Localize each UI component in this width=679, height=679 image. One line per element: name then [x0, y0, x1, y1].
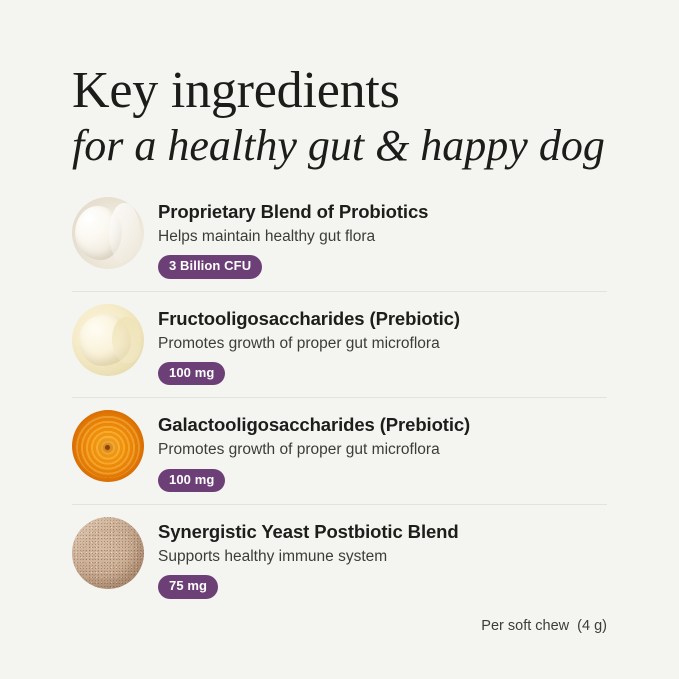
list-item: Proprietary Blend of Probiotics Helps ma… [72, 190, 607, 291]
ingredient-description: Helps maintain healthy gut flora [158, 227, 607, 247]
ingredient-title: Proprietary Blend of Probiotics [158, 201, 607, 223]
pale-cream-swirl-image [72, 304, 144, 376]
list-item: Fructooligosaccharides (Prebiotic) Promo… [72, 291, 607, 398]
ingredient-description: Promotes growth of proper gut microflora [158, 440, 607, 460]
ingredient-thumbnail-wrap [72, 517, 146, 591]
status-badge: 75 mg [158, 575, 218, 598]
ingredient-title: Fructooligosaccharides (Prebiotic) [158, 308, 607, 330]
status-badge: 100 mg [158, 362, 225, 385]
tan-yeast-granules-image [72, 517, 144, 589]
ingredient-title: Synergistic Yeast Postbiotic Blend [158, 521, 607, 543]
ingredients-panel: Key ingredients for a healthy gut & happ… [0, 0, 679, 679]
ingredient-body: Galactooligosaccharides (Prebiotic) Prom… [158, 410, 607, 492]
ingredient-thumbnail-wrap [72, 410, 146, 484]
ingredient-description: Promotes growth of proper gut microflora [158, 334, 607, 354]
orange-root-slice-image [72, 410, 144, 482]
heading-secondary: for a healthy gut & happy dog [72, 121, 632, 170]
page-title: Key ingredients for a healthy gut & happ… [72, 64, 632, 170]
serving-footnote: Per soft chew (4 g) [481, 618, 607, 634]
ingredient-body: Fructooligosaccharides (Prebiotic) Promo… [158, 304, 607, 386]
probiotic-cream-swirl-image [72, 197, 144, 269]
list-item: Galactooligosaccharides (Prebiotic) Prom… [72, 397, 607, 504]
heading-primary: Key ingredients [72, 64, 632, 117]
status-badge: 100 mg [158, 469, 225, 492]
ingredient-body: Synergistic Yeast Postbiotic Blend Suppo… [158, 517, 607, 599]
ingredient-list: Proprietary Blend of Probiotics Helps ma… [72, 190, 607, 611]
ingredient-title: Galactooligosaccharides (Prebiotic) [158, 414, 607, 436]
ingredient-description: Supports healthy immune system [158, 547, 607, 567]
ingredient-body: Proprietary Blend of Probiotics Helps ma… [158, 197, 607, 279]
list-item: Synergistic Yeast Postbiotic Blend Suppo… [72, 504, 607, 611]
status-badge: 3 Billion CFU [158, 255, 262, 278]
ingredient-thumbnail-wrap [72, 304, 146, 378]
ingredient-thumbnail-wrap [72, 197, 146, 271]
